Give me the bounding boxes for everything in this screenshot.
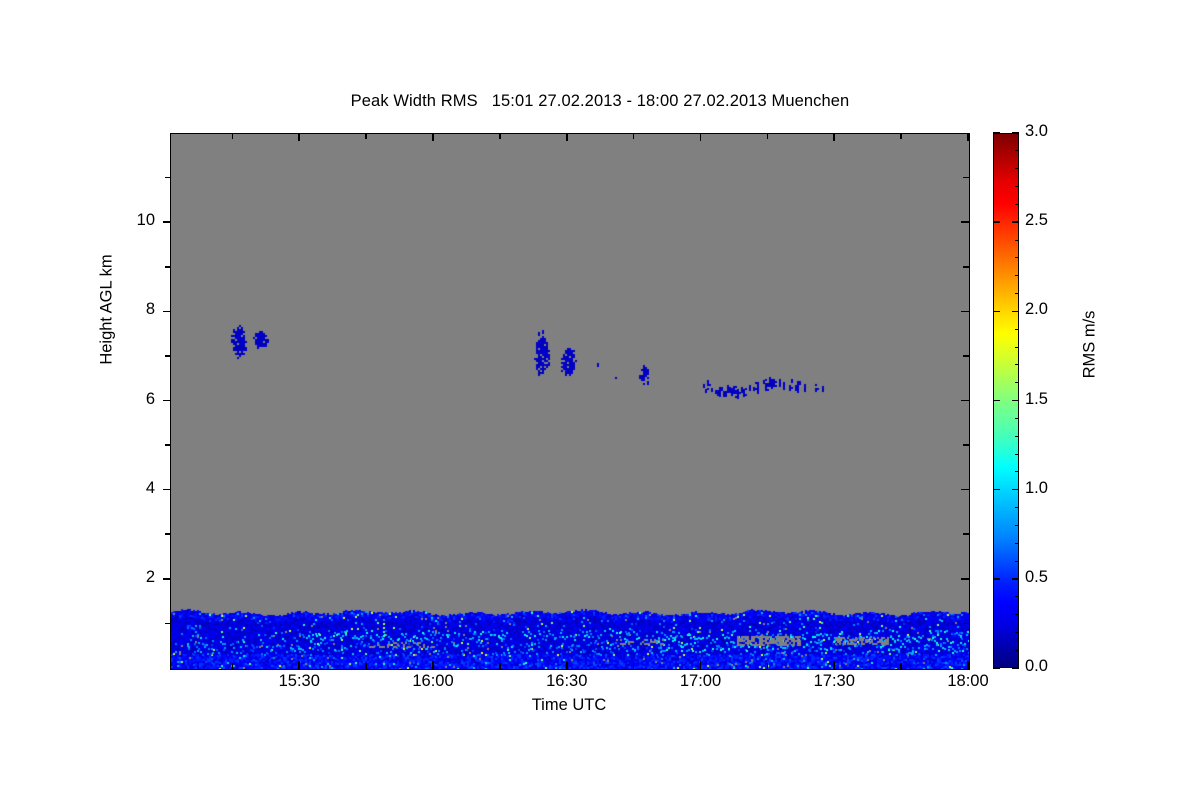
y-axis-title: Height AGL km <box>98 200 117 420</box>
y-tick-major-right <box>961 221 969 223</box>
colorbar-tick-minor <box>1015 543 1019 544</box>
x-tick-major <box>967 661 969 669</box>
colorbar-tick-minor <box>1015 418 1019 419</box>
colorbar-tick-label: 0.5 <box>1025 568 1085 587</box>
colorbar-tick-left <box>993 578 1000 580</box>
colorbar-tick-minor <box>1015 650 1019 651</box>
colorbar-tick <box>1012 221 1019 223</box>
x-tick-major-top <box>432 133 434 141</box>
colorbar-tick-label: 2.0 <box>1025 300 1085 319</box>
colorbar-title: RMS m/s <box>1081 245 1100 445</box>
colorbar-tick <box>1012 400 1019 402</box>
colorbar-tick-minor <box>1015 364 1019 365</box>
colorbar-tick-minor <box>1015 347 1019 348</box>
colorbar-tick-minor <box>1015 507 1019 508</box>
x-tick-major <box>700 661 702 669</box>
x-tick-major-top <box>566 133 568 141</box>
colorbar-tick-minor <box>1015 150 1019 151</box>
colorbar-tick-minor <box>1015 614 1019 615</box>
x-tick-major-top <box>298 133 300 141</box>
colorbar-tick-minor <box>1015 525 1019 526</box>
x-tick-minor <box>365 663 367 669</box>
plot-area <box>170 133 970 670</box>
x-tick-minor <box>767 663 769 669</box>
colorbar-tick-label: 1.0 <box>1025 479 1085 498</box>
colorbar-tick-label: 2.5 <box>1025 211 1085 230</box>
colorbar-tick-minor <box>1015 471 1019 472</box>
x-axis-title: Time UTC <box>170 696 968 715</box>
colorbar-tick-minor <box>1015 168 1019 169</box>
x-tick-label: 18:00 <box>928 672 1008 691</box>
colorbar-tick-minor <box>1015 596 1019 597</box>
colorbar-tick-minor <box>1015 632 1019 633</box>
colorbar-tick-minor <box>1015 436 1019 437</box>
x-tick-minor-top <box>365 133 367 139</box>
y-tick-minor-right <box>963 623 969 625</box>
heatmap-canvas <box>171 134 969 669</box>
y-tick-label: 8 <box>115 300 155 319</box>
colorbar-tick-label: 0.0 <box>1025 657 1085 676</box>
y-tick-minor-right <box>963 355 969 357</box>
y-tick-major-right <box>961 489 969 491</box>
y-tick-minor-right <box>963 444 969 446</box>
x-tick-minor-top <box>767 133 769 139</box>
x-tick-minor <box>499 663 501 669</box>
x-tick-label: 15:30 <box>259 672 339 691</box>
colorbar-tick-minor <box>1015 204 1019 205</box>
colorbar-tick-label: 3.0 <box>1025 122 1085 141</box>
colorbar-tick-minor <box>1015 186 1019 187</box>
x-tick-minor <box>633 663 635 669</box>
colorbar-tick-minor <box>1015 382 1019 383</box>
lidar-peak-width-rms-plot: Peak Width RMS 15:01 27.02.2013 - 18:00 … <box>0 0 1200 800</box>
colorbar-tick-left <box>993 489 1000 491</box>
y-tick-major <box>163 489 171 491</box>
colorbar-tick <box>1012 578 1019 580</box>
x-tick-minor-top <box>900 133 902 139</box>
y-tick-minor <box>165 444 171 446</box>
colorbar-tick-minor <box>1015 561 1019 562</box>
y-tick-major-right <box>961 400 969 402</box>
y-tick-minor <box>165 623 171 625</box>
y-tick-major-right <box>961 578 969 580</box>
x-tick-label: 17:30 <box>794 672 874 691</box>
y-tick-major <box>163 221 171 223</box>
x-tick-major-top <box>700 133 702 141</box>
y-tick-minor-right <box>963 533 969 535</box>
colorbar-tick <box>1012 132 1019 134</box>
y-tick-label: 6 <box>115 390 155 409</box>
y-tick-major <box>163 400 171 402</box>
colorbar-tick-left <box>993 132 1000 134</box>
x-tick-major-top <box>967 133 969 141</box>
colorbar-tick-left <box>993 400 1000 402</box>
x-tick-major <box>566 661 568 669</box>
x-tick-label: 17:00 <box>661 672 741 691</box>
page-title: Peak Width RMS 15:01 27.02.2013 - 18:00 … <box>0 92 1200 111</box>
colorbar-tick-minor <box>1015 293 1019 294</box>
y-tick-label: 2 <box>115 568 155 587</box>
colorbar-tick-minor <box>1015 275 1019 276</box>
x-tick-minor-top <box>633 133 635 139</box>
x-tick-label: 16:00 <box>393 672 473 691</box>
colorbar-tick-minor <box>1015 489 1019 490</box>
x-tick-minor-top <box>499 133 501 139</box>
x-tick-minor <box>900 663 902 669</box>
colorbar-tick-minor <box>1015 454 1019 455</box>
x-tick-major <box>432 661 434 669</box>
y-tick-minor <box>165 533 171 535</box>
y-tick-minor <box>165 266 171 268</box>
x-tick-major <box>833 661 835 669</box>
colorbar-tick-minor <box>1015 257 1019 258</box>
colorbar-tick-minor <box>1015 329 1019 330</box>
y-tick-minor-right <box>963 177 969 179</box>
colorbar-tick-left <box>993 311 1000 313</box>
x-tick-major-top <box>833 133 835 141</box>
y-tick-major <box>163 578 171 580</box>
x-tick-minor <box>232 663 234 669</box>
x-tick-major <box>298 661 300 669</box>
x-tick-label: 16:30 <box>527 672 607 691</box>
colorbar-tick-left <box>993 221 1000 223</box>
colorbar-tick <box>1012 311 1019 313</box>
y-tick-major <box>163 311 171 313</box>
colorbar-tick-label: 1.5 <box>1025 390 1085 409</box>
y-tick-minor-right <box>963 266 969 268</box>
y-tick-label: 4 <box>115 479 155 498</box>
y-tick-minor <box>165 355 171 357</box>
y-tick-major-right <box>961 311 969 313</box>
x-tick-minor-top <box>232 133 234 139</box>
colorbar-tick <box>1012 667 1019 669</box>
colorbar-tick-minor <box>1015 240 1019 241</box>
y-tick-label: 10 <box>115 211 155 230</box>
y-tick-minor <box>165 177 171 179</box>
colorbar-tick-left <box>993 667 1000 669</box>
